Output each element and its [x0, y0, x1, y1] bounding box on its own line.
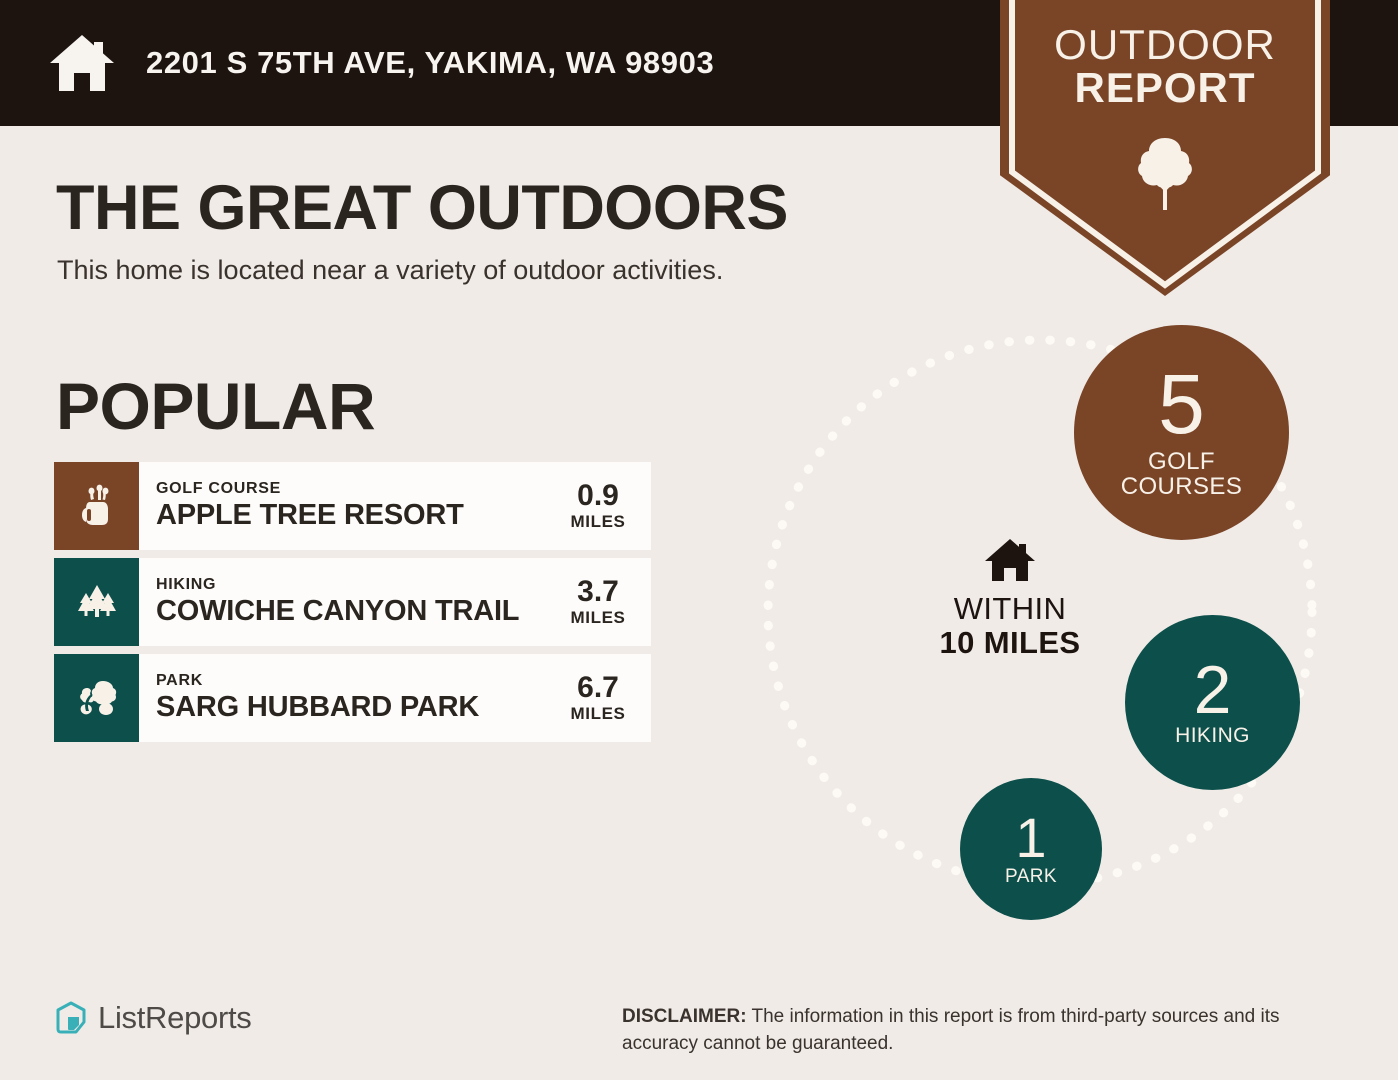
bubble-count: 2 — [1194, 658, 1232, 723]
list-item-distance: 3.7 MILES — [551, 558, 651, 646]
list-item[interactable]: HIKING COWICHE CANYON TRAIL 3.7 MILES — [54, 558, 651, 646]
badge-title-line2: REPORT — [1000, 67, 1330, 110]
listreports-house-icon — [55, 1001, 87, 1035]
distance-unit: MILES — [571, 608, 626, 628]
badge-title: OUTDOOR REPORT — [1000, 24, 1330, 110]
listreports-logo[interactable]: ListReports — [55, 1000, 252, 1036]
popular-heading: POPULAR — [56, 368, 375, 444]
golf-bag-icon — [74, 483, 120, 529]
within-label-line1: WITHIN — [954, 593, 1067, 626]
diagram-center-marker: WITHIN 10 MILES — [920, 537, 1100, 660]
bubble-count: 1 — [1015, 811, 1046, 864]
list-item-name: SARG HUBBARD PARK — [156, 691, 551, 724]
disclaimer-label: DISCLAIMER: — [622, 1006, 747, 1027]
within-10-miles-diagram: WITHIN 10 MILES 5 GOLF COURSES 2 HIKING … — [700, 300, 1380, 940]
outdoor-report-badge: OUTDOOR REPORT — [1000, 0, 1330, 296]
bubble-golf-courses[interactable]: 5 GOLF COURSES — [1074, 325, 1289, 540]
page-title: THE GREAT OUTDOORS — [56, 172, 788, 244]
list-item-distance: 6.7 MILES — [551, 654, 651, 742]
hiking-icon-tile — [54, 558, 139, 646]
list-item-category: PARK — [156, 672, 551, 690]
list-item-category: GOLF COURSE — [156, 480, 551, 498]
list-item-text: HIKING COWICHE CANYON TRAIL — [139, 558, 551, 646]
distance-value: 3.7 — [577, 576, 619, 608]
park-icon-tile — [54, 654, 139, 742]
bubble-park[interactable]: 1 PARK — [960, 778, 1102, 920]
outdoor-report-page: 2201 S 75TH AVE, YAKIMA, WA 98903 OUTDOO… — [0, 0, 1398, 1080]
home-icon — [983, 537, 1037, 583]
pine-trees-icon — [74, 579, 120, 625]
badge-title-line1: OUTDOOR — [1000, 24, 1330, 67]
bubble-count: 5 — [1158, 365, 1205, 445]
list-item-distance: 0.9 MILES — [551, 462, 651, 550]
distance-value: 0.9 — [577, 480, 619, 512]
bubble-hiking[interactable]: 2 HIKING — [1125, 615, 1300, 790]
list-item-name: COWICHE CANYON TRAIL — [156, 595, 551, 628]
bubble-label-line2: COURSES — [1121, 474, 1243, 499]
bubble-label-line1: HIKING — [1175, 725, 1250, 747]
list-item-text: GOLF COURSE APPLE TREE RESORT — [139, 462, 551, 550]
distance-unit: MILES — [571, 512, 626, 532]
page-subtitle: This home is located near a variety of o… — [57, 255, 723, 286]
golf-course-icon-tile — [54, 462, 139, 550]
distance-unit: MILES — [571, 704, 626, 724]
disclaimer: DISCLAIMER: The information in this repo… — [622, 1004, 1352, 1058]
bubble-label-line1: GOLF — [1148, 449, 1215, 474]
within-label-line2: 10 MILES — [939, 626, 1080, 660]
list-item[interactable]: PARK SARG HUBBARD PARK 6.7 MILES — [54, 654, 651, 742]
popular-list: GOLF COURSE APPLE TREE RESORT 0.9 MILES … — [54, 462, 651, 750]
distance-value: 6.7 — [577, 672, 619, 704]
bubble-label-line1: PARK — [1005, 867, 1057, 887]
brand-name: ListReports — [98, 1000, 252, 1036]
property-address: 2201 S 75TH AVE, YAKIMA, WA 98903 — [146, 45, 714, 81]
list-item-category: HIKING — [156, 576, 551, 594]
list-item[interactable]: GOLF COURSE APPLE TREE RESORT 0.9 MILES — [54, 462, 651, 550]
list-item-name: APPLE TREE RESORT — [156, 499, 551, 532]
list-item-text: PARK SARG HUBBARD PARK — [139, 654, 551, 742]
tree-icon — [1135, 134, 1195, 214]
home-icon — [46, 32, 118, 94]
park-trees-icon — [74, 675, 120, 721]
